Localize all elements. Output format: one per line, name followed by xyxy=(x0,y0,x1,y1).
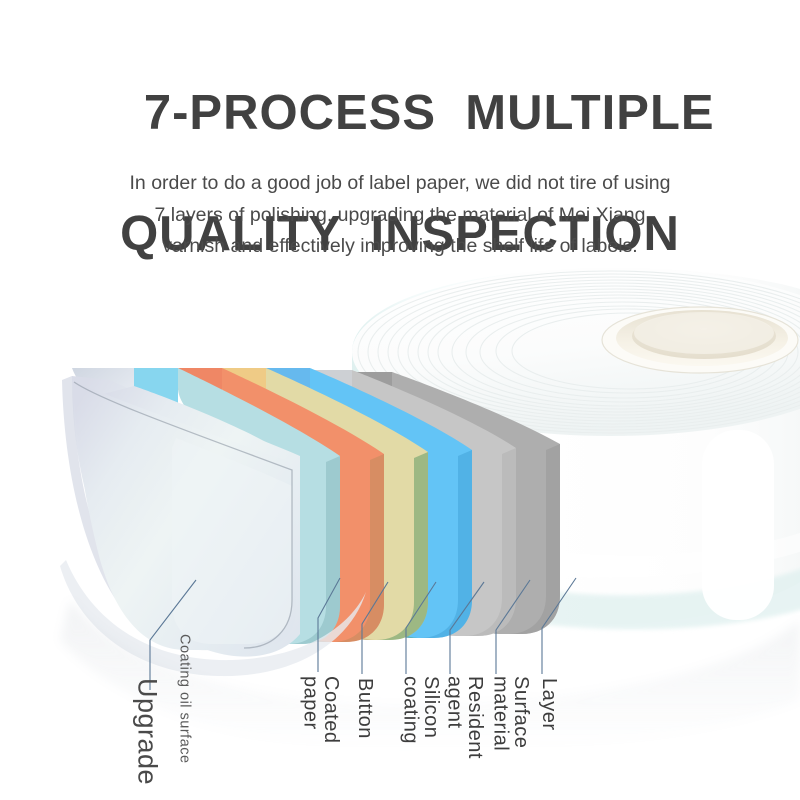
label-upgrade: Upgrade xyxy=(133,678,162,785)
roll-label-front xyxy=(702,430,774,620)
label-silicon-coating: Silicon coating xyxy=(400,676,441,744)
infographic-canvas: 7-PROCESS MULTIPLE QUALITY INSPECTION In… xyxy=(0,0,800,800)
label-coated-paper: Coated paper xyxy=(300,676,341,744)
label-coating-oil-surface: Coating oil surface xyxy=(176,634,191,764)
label-button: Button xyxy=(354,678,375,739)
label-layer: Layer xyxy=(538,678,559,731)
label-surface-material: Surface material xyxy=(490,676,531,751)
label-resident-agent: Resident agent xyxy=(444,676,485,759)
